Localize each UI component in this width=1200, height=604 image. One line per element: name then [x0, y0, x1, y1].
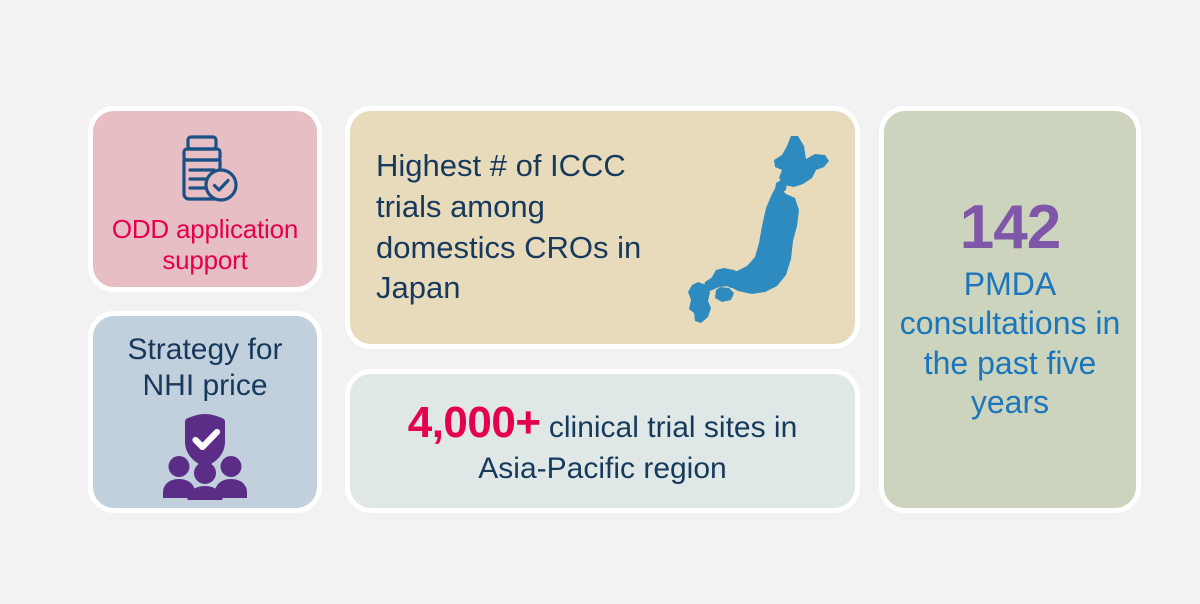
card-sites-second-line: Asia-Pacific region [478, 450, 726, 488]
medicine-bottle-check-icon [163, 128, 247, 212]
card-highest-iccc-trials[interactable]: Highest # of ICCC trials among domestics… [345, 106, 860, 349]
japan-map-icon [677, 128, 847, 328]
card-odd-label: ODD application support [93, 214, 317, 275]
card-sites-first-line: 4,000+ clinical trial sites in [408, 395, 798, 450]
clinical-trial-sites-label-inline: clinical trial sites in [541, 411, 798, 444]
card-strategy-nhi-price[interactable]: Strategy for NHI price [88, 311, 322, 513]
pmda-consultations-metric: 142 [960, 197, 1060, 259]
clinical-trial-sites-metric: 4,000+ [408, 398, 541, 447]
card-odd-application-support[interactable]: ODD application support [88, 106, 322, 292]
card-clinical-trial-sites[interactable]: 4,000+ clinical trial sites in Asia-Paci… [345, 369, 860, 513]
infographic-board: ODD application support Strategy for NHI… [0, 0, 1200, 604]
pmda-consultations-label: PMDA consultations in the past five year… [898, 265, 1122, 421]
shield-check-people-icon [157, 410, 253, 500]
card-pmda-consultations[interactable]: 142 PMDA consultations in the past five … [879, 106, 1141, 513]
card-iccc-label: Highest # of ICCC trials among domestics… [376, 146, 677, 310]
card-nhi-label: Strategy for NHI price [93, 332, 317, 404]
